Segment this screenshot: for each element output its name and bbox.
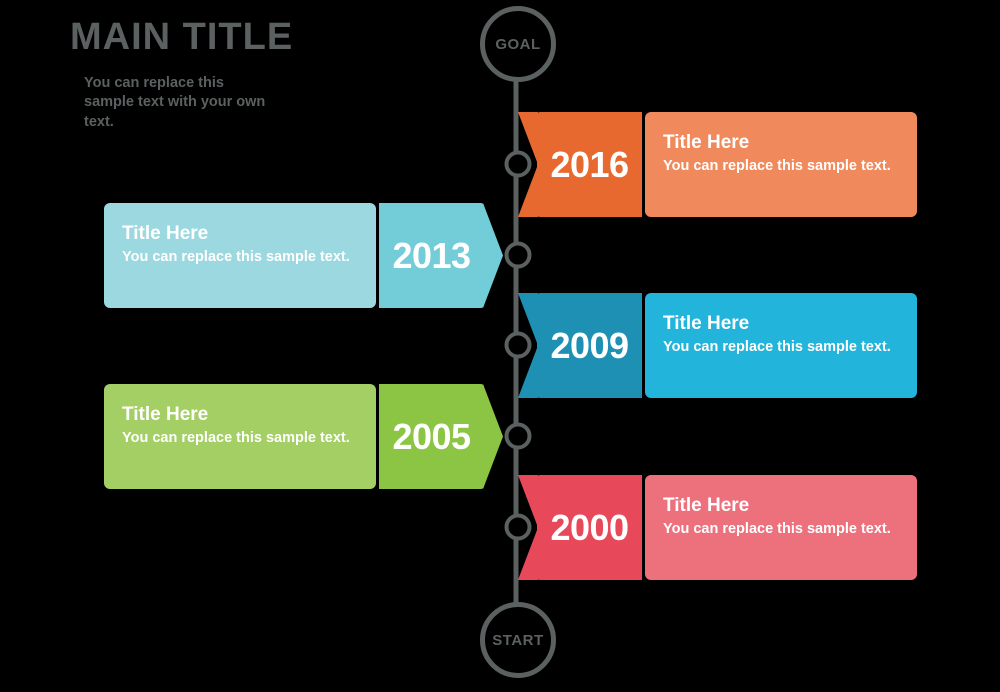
milestone-year-2016[interactable]: 2016 [537, 112, 642, 217]
milestone-title: Title Here [663, 495, 899, 517]
milestone-text: You can replace this sample text. [122, 429, 358, 449]
milestone-title: Title Here [663, 132, 899, 154]
header-block: MAIN TITLE You can replace this sample t… [70, 18, 400, 133]
milestone-text: You can replace this sample text. [663, 338, 899, 358]
milestone-text: You can replace this sample text. [663, 157, 899, 177]
milestone-title: Title Here [122, 223, 358, 245]
milestone-content-2000[interactable]: Title HereYou can replace this sample te… [645, 475, 917, 580]
milestone-year-label: 2016 [550, 144, 628, 186]
page-subtitle: You can replace this sample text with yo… [84, 74, 274, 133]
milestone-year-2005[interactable]: 2005 [379, 384, 484, 489]
milestone-content-2009[interactable]: Title HereYou can replace this sample te… [645, 293, 917, 398]
timeline-node-2009[interactable] [505, 332, 532, 359]
milestone-row-2000[interactable]: 2000Title HereYou can replace this sampl… [537, 475, 917, 580]
milestone-title: Title Here [122, 404, 358, 426]
milestone-row-2009[interactable]: 2009Title HereYou can replace this sampl… [537, 293, 917, 398]
milestone-year-label: 2013 [392, 235, 470, 277]
milestone-year-2000[interactable]: 2000 [537, 475, 642, 580]
milestone-year-label: 2005 [392, 416, 470, 458]
timeline-node-2016[interactable] [505, 151, 532, 178]
milestone-text: You can replace this sample text. [663, 520, 899, 540]
timeline-node-2000[interactable] [505, 514, 532, 541]
milestone-title: Title Here [663, 313, 899, 335]
timeline-goal-marker: GOAL [480, 6, 556, 82]
page-title: MAIN TITLE [70, 18, 400, 58]
milestone-year-label: 2009 [550, 325, 628, 367]
milestone-row-2016[interactable]: 2016Title HereYou can replace this sampl… [537, 112, 917, 217]
milestone-content-2005[interactable]: Title HereYou can replace this sample te… [104, 384, 376, 489]
goal-label: GOAL [495, 36, 540, 53]
start-label: START [492, 632, 543, 649]
milestone-text: You can replace this sample text. [122, 248, 358, 268]
timeline-start-marker: START [480, 602, 556, 678]
timeline-node-2005[interactable] [505, 423, 532, 450]
milestone-content-2013[interactable]: Title HereYou can replace this sample te… [104, 203, 376, 308]
milestone-content-2016[interactable]: Title HereYou can replace this sample te… [645, 112, 917, 217]
timeline-node-2013[interactable] [505, 242, 532, 269]
milestone-row-2005[interactable]: Title HereYou can replace this sample te… [104, 384, 484, 489]
milestone-row-2013[interactable]: Title HereYou can replace this sample te… [104, 203, 484, 308]
milestone-year-label: 2000 [550, 507, 628, 549]
milestone-year-2009[interactable]: 2009 [537, 293, 642, 398]
milestone-year-2013[interactable]: 2013 [379, 203, 484, 308]
